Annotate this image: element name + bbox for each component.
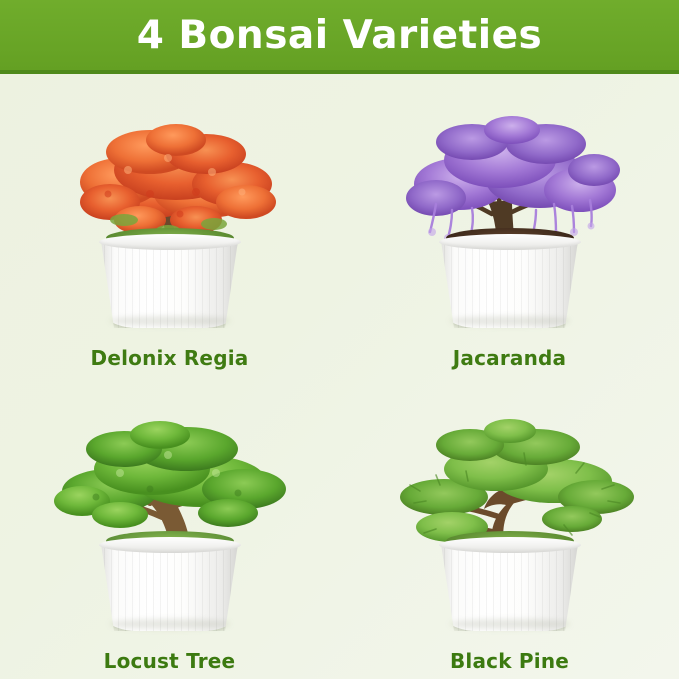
bonsai-label-delonix-regia: Delonix Regia (0, 346, 339, 370)
bonsai-label-jacaranda: Jacaranda (340, 346, 679, 370)
bonsai-card-jacaranda: Jacaranda (340, 74, 679, 376)
white-planter-pot (437, 535, 583, 631)
plant-stage (340, 74, 679, 336)
white-planter-pot (97, 535, 243, 631)
product-image: 4 Bonsai Varieties (0, 0, 679, 679)
bonsai-card-black-pine: Black Pine (340, 377, 679, 679)
plant-stage (0, 377, 339, 639)
bonsai-label-black-pine: Black Pine (340, 649, 679, 673)
white-planter-pot (437, 232, 583, 328)
header-banner: 4 Bonsai Varieties (0, 0, 679, 70)
bonsai-grid: Delonix Regia (0, 74, 679, 679)
plant-stage (0, 74, 339, 336)
bonsai-card-locust-tree: Locust Tree (0, 377, 339, 679)
page-title: 4 Bonsai Varieties (137, 16, 543, 55)
bonsai-label-locust-tree: Locust Tree (0, 649, 339, 673)
plant-stage (340, 377, 679, 639)
white-planter-pot (97, 232, 243, 328)
bonsai-card-delonix-regia: Delonix Regia (0, 74, 339, 376)
